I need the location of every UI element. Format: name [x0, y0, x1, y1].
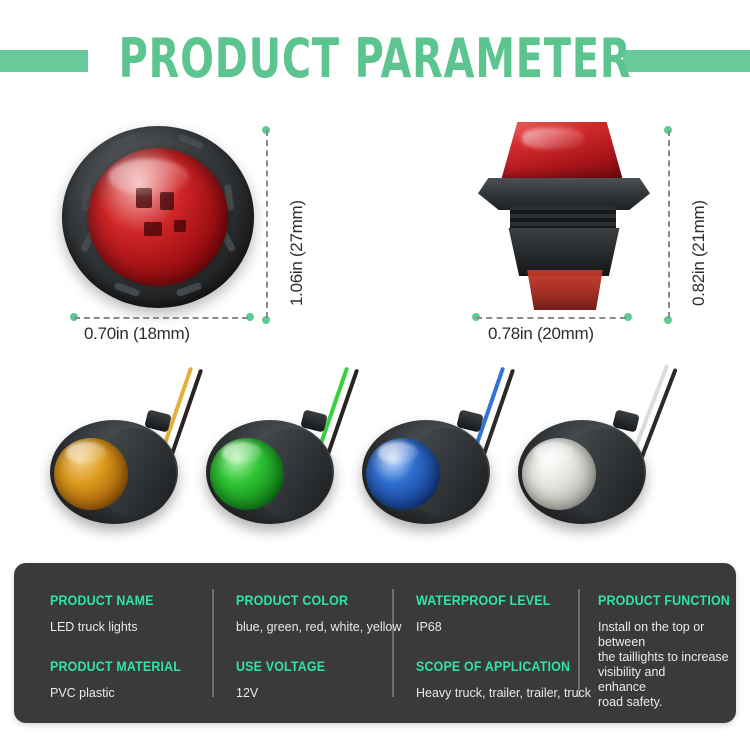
- lamp-lens-red: [88, 148, 228, 286]
- dim-line-side-width: [476, 317, 626, 319]
- dim-label-front-width: 0.70in (18mm): [84, 324, 190, 344]
- lamp-dome-red: [500, 122, 624, 184]
- lamp-lens-amber: [54, 438, 128, 510]
- spec-value: blue, green, red, white, yellow: [236, 620, 406, 635]
- product-image-front-view: [62, 126, 254, 308]
- dim-label-side-height: 0.82in (21mm): [689, 200, 709, 306]
- lamp-blue: [362, 420, 494, 526]
- spec-heading: PRODUCT FUNCTION: [598, 593, 719, 608]
- lamp-base-red: [522, 270, 608, 310]
- spec-cell-use-voltage: USE VOLTAGE 12V: [236, 659, 406, 701]
- spec-value: Install on the top or between the tailli…: [598, 620, 730, 710]
- lamp-lens-green: [210, 438, 284, 510]
- lamp-lens-white: [522, 438, 596, 510]
- spec-cell-waterproof-level: WATERPROOF LEVEL IP68: [416, 593, 576, 635]
- dim-line-side-height: [668, 130, 670, 318]
- dim-line-front-width: [74, 317, 248, 319]
- spec-cell-product-material: PRODUCT MATERIAL PVC plastic: [50, 659, 206, 701]
- spec-heading: PRODUCT NAME: [50, 593, 194, 608]
- spec-cell-scope-of-application: SCOPE OF APPLICATION Heavy truck, traile…: [416, 659, 596, 701]
- lamp-body: [498, 228, 630, 276]
- page-header: PRODUCT PARAMETER: [0, 28, 750, 94]
- spec-value: IP68: [416, 620, 576, 635]
- spec-cell-product-function: PRODUCT FUNCTION Install on the top or b…: [598, 593, 730, 710]
- product-parameter-infographic: PRODUCT PARAMETER 1.06in (27mm): [0, 0, 750, 750]
- spec-divider-1: [212, 589, 214, 697]
- page-title: PRODUCT PARAMETER: [68, 28, 683, 90]
- product-image-side-view: [470, 120, 660, 310]
- spec-value: 12V: [236, 686, 406, 701]
- spec-value: LED truck lights: [50, 620, 206, 635]
- color-variant-white: [508, 358, 698, 554]
- spec-value: PVC plastic: [50, 686, 206, 701]
- spec-cell-product-color: PRODUCT COLOR blue, green, red, white, y…: [236, 593, 406, 635]
- lamp-lens-blue: [366, 438, 440, 510]
- spec-cell-product-name: PRODUCT NAME LED truck lights: [50, 593, 206, 635]
- spec-value: Heavy truck, trailer, trailer, truck: [416, 686, 596, 701]
- dim-label-side-width: 0.78in (20mm): [488, 324, 594, 344]
- dim-label-front-height: 1.06in (27mm): [287, 200, 307, 306]
- spec-heading: SCOPE OF APPLICATION: [416, 659, 582, 674]
- spec-heading: USE VOLTAGE: [236, 659, 392, 674]
- spec-panel: PRODUCT NAME LED truck lights PRODUCT CO…: [14, 563, 736, 723]
- dim-line-front-height: [266, 130, 268, 318]
- lamp-amber: [50, 420, 182, 526]
- spec-heading: PRODUCT MATERIAL: [50, 659, 194, 674]
- spec-heading: PRODUCT COLOR: [236, 593, 392, 608]
- color-variants-row: [0, 358, 750, 554]
- lamp-green: [206, 420, 338, 526]
- product-showcase: 1.06in (27mm) 0.70in (18mm) 0.82in (21mm…: [0, 108, 750, 358]
- spec-heading: WATERPROOF LEVEL: [416, 593, 563, 608]
- lamp-white: [518, 420, 650, 526]
